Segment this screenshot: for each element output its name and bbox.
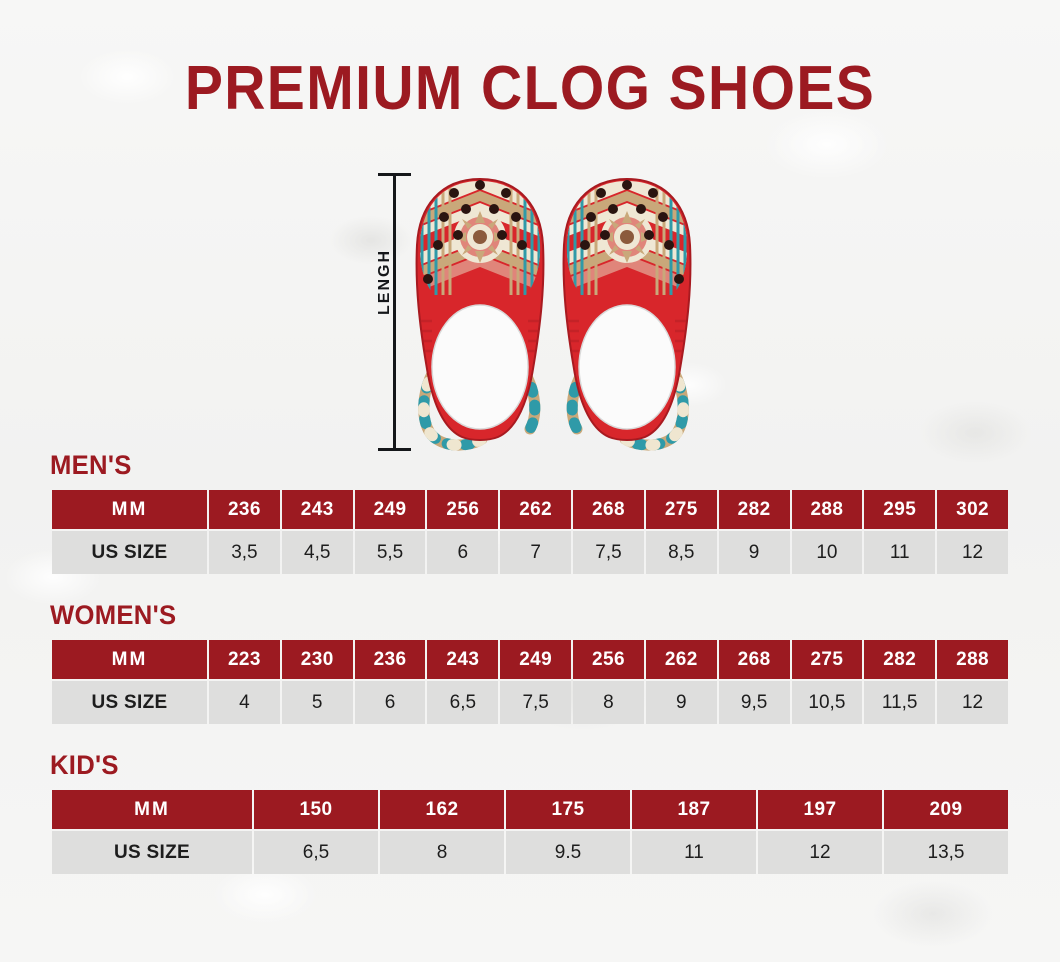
table-row-us-mens: US SIZE 3,5 4,5 5,5 6 7 7,5 8,5 9 10 11 … xyxy=(52,529,1008,574)
row-label-mm: MM xyxy=(52,640,207,679)
cell-us: 11 xyxy=(632,829,756,874)
cell-us: 9 xyxy=(646,679,717,724)
cell-us: 4,5 xyxy=(282,529,353,574)
section-heading-womens: WOMEN'S xyxy=(50,600,176,631)
cell-mm: 256 xyxy=(573,640,644,679)
cell-mm: 197 xyxy=(758,790,882,829)
cell-mm: 282 xyxy=(864,640,935,679)
table-row-mm-mens: MM 236 243 249 256 262 268 275 282 288 2… xyxy=(52,490,1008,529)
cell-mm: 262 xyxy=(646,640,717,679)
cell-us: 12 xyxy=(758,829,882,874)
cell-us: 7 xyxy=(500,529,571,574)
cell-mm: 256 xyxy=(427,490,498,529)
cell-mm: 162 xyxy=(380,790,504,829)
length-label: LENGH xyxy=(376,222,394,342)
cell-mm: 236 xyxy=(355,640,426,679)
cell-us: 3,5 xyxy=(209,529,280,574)
cell-mm: 243 xyxy=(427,640,498,679)
cell-us: 10,5 xyxy=(792,679,863,724)
cell-us: 5 xyxy=(282,679,353,724)
cell-mm: 209 xyxy=(884,790,1008,829)
cell-us: 8 xyxy=(573,679,644,724)
cell-mm: 268 xyxy=(573,490,644,529)
cell-us: 10 xyxy=(792,529,863,574)
size-table-mens: MM 236 243 249 256 262 268 275 282 288 2… xyxy=(50,490,1010,574)
product-hero: LENGH xyxy=(355,165,705,455)
row-label-mm: MM xyxy=(52,490,207,529)
cell-mm: 275 xyxy=(646,490,717,529)
size-table-womens: MM 223 230 236 243 249 256 262 268 275 2… xyxy=(50,640,1010,724)
cell-mm: 282 xyxy=(719,490,790,529)
cell-mm: 236 xyxy=(209,490,280,529)
clog-shoe-right-icon xyxy=(560,171,693,451)
clog-shoe-left-icon xyxy=(414,171,547,451)
size-table-kids: MM 150 162 175 187 197 209 US SIZE 6,5 8… xyxy=(50,790,1010,874)
cell-mm: 150 xyxy=(254,790,378,829)
cell-us: 5,5 xyxy=(355,529,426,574)
cell-mm: 275 xyxy=(792,640,863,679)
row-label-us-size: US SIZE xyxy=(52,829,252,874)
cell-us: 11 xyxy=(864,529,935,574)
cell-us: 6,5 xyxy=(254,829,378,874)
cell-us: 7,5 xyxy=(500,679,571,724)
cell-mm: 175 xyxy=(506,790,630,829)
clog-shoes-image xyxy=(410,165,700,455)
cell-mm: 262 xyxy=(500,490,571,529)
cell-mm: 223 xyxy=(209,640,280,679)
cell-mm: 243 xyxy=(282,490,353,529)
cell-mm: 187 xyxy=(632,790,756,829)
page-title: PREMIUM CLOG SHOES xyxy=(42,58,1017,120)
cell-mm: 249 xyxy=(500,640,571,679)
cell-us: 9 xyxy=(719,529,790,574)
row-label-mm: MM xyxy=(52,790,252,829)
cell-us: 13,5 xyxy=(884,829,1008,874)
row-label-us-size: US SIZE xyxy=(52,679,207,724)
cell-mm: 230 xyxy=(282,640,353,679)
cell-mm: 288 xyxy=(937,640,1008,679)
cell-us: 7,5 xyxy=(573,529,644,574)
table-row-mm-kids: MM 150 162 175 187 197 209 xyxy=(52,790,1008,829)
section-heading-kids: KID'S xyxy=(50,750,119,781)
measure-cap-bottom xyxy=(378,448,411,451)
cell-mm: 249 xyxy=(355,490,426,529)
cell-us: 6,5 xyxy=(427,679,498,724)
cell-us: 9.5 xyxy=(506,829,630,874)
table-row-mm-womens: MM 223 230 236 243 249 256 262 268 275 2… xyxy=(52,640,1008,679)
cell-mm: 268 xyxy=(719,640,790,679)
cell-us: 4 xyxy=(209,679,280,724)
section-heading-mens: MEN'S xyxy=(50,450,132,481)
cell-us: 12 xyxy=(937,529,1008,574)
length-measurement-indicator: LENGH xyxy=(377,173,411,451)
cell-mm: 295 xyxy=(864,490,935,529)
cell-us: 8 xyxy=(380,829,504,874)
cell-us: 11,5 xyxy=(864,679,935,724)
cell-us: 6 xyxy=(355,679,426,724)
cell-us: 8,5 xyxy=(646,529,717,574)
table-row-us-kids: US SIZE 6,5 8 9.5 11 12 13,5 xyxy=(52,829,1008,874)
cell-mm: 288 xyxy=(792,490,863,529)
cell-us: 6 xyxy=(427,529,498,574)
row-label-us-size: US SIZE xyxy=(52,529,207,574)
cell-us: 12 xyxy=(937,679,1008,724)
table-row-us-womens: US SIZE 4 5 6 6,5 7,5 8 9 9,5 10,5 11,5 … xyxy=(52,679,1008,724)
cell-us: 9,5 xyxy=(719,679,790,724)
cell-mm: 302 xyxy=(937,490,1008,529)
